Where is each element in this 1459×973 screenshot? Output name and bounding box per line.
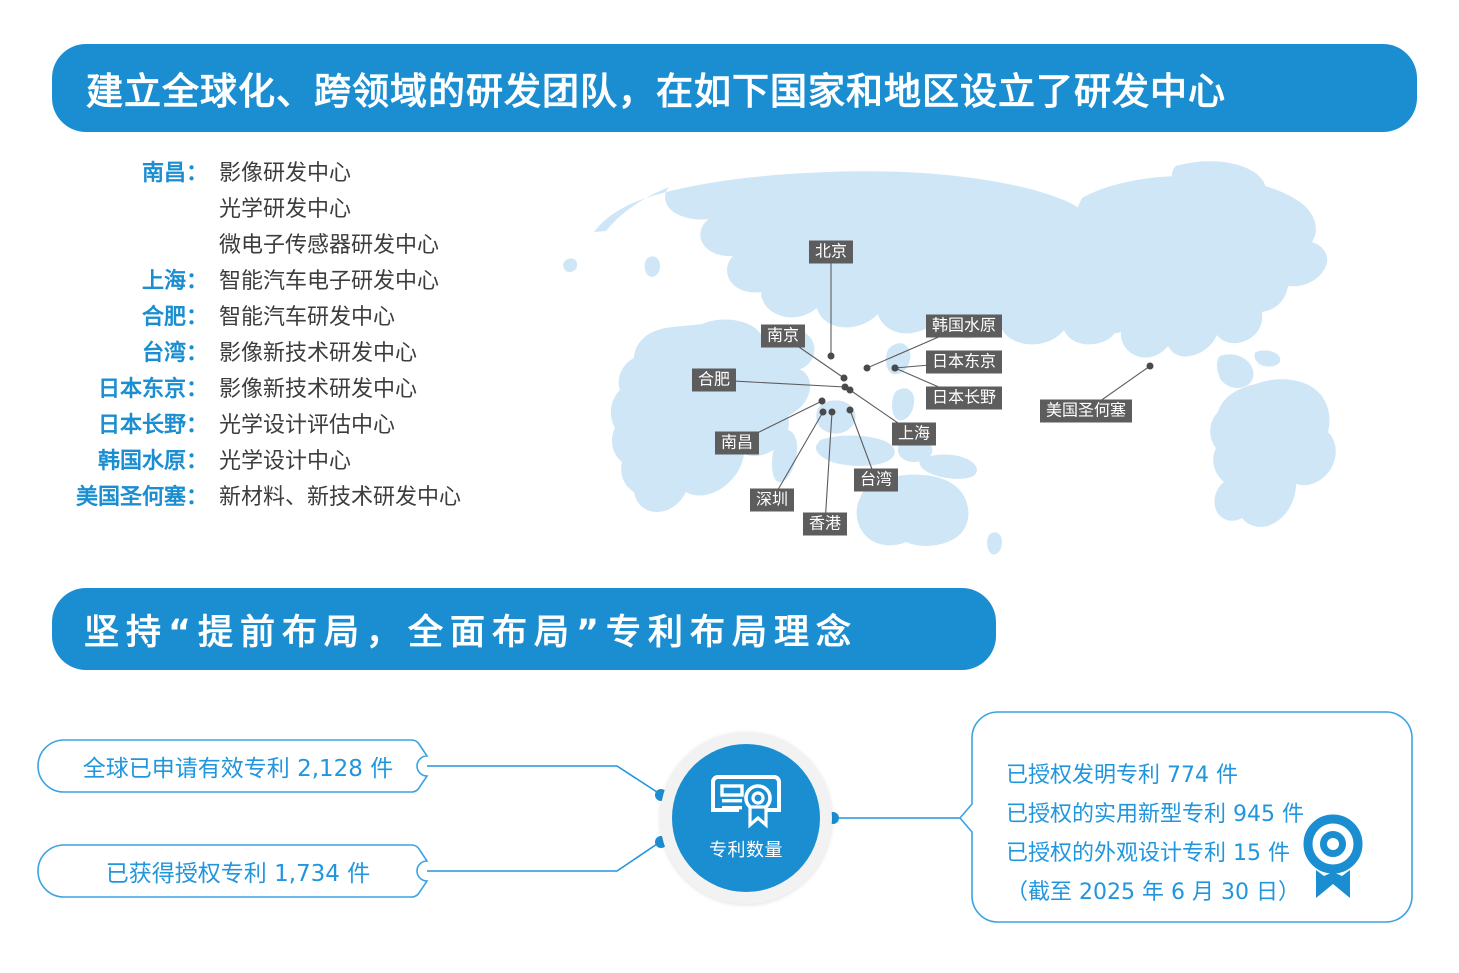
patent-detail-lines: 已授权发明专利 774 件已授权的实用新型专利 945 件已授权的外观设计专利 … [1006, 756, 1304, 912]
map-dot-suwon [864, 365, 871, 372]
map-label-beijing: 北京 [809, 241, 853, 264]
rnd-center-desc: 新材料、新技术研发中心 [208, 479, 461, 511]
region-central-america [1217, 354, 1253, 388]
map-label-hefei: 合肥 [692, 369, 736, 392]
rnd-banner: 建立全球化、跨领域的研发团队，在如下国家和地区设立了研发中心 [52, 44, 1417, 132]
rnd-center-desc: 影像研发中心 [208, 155, 351, 187]
rnd-center-row: 合肥：智能汽车研发中心 [40, 299, 495, 335]
rnd-center-city: 美国圣何塞： [40, 479, 208, 511]
rnd-center-desc: 光学研发中心 [208, 191, 351, 223]
map-dot-hongkong [829, 409, 836, 416]
patent-count-badge-label: 专利数量 [709, 836, 783, 862]
pill-granted-patents: 已获得授权专利 1,734 件 [38, 845, 438, 897]
patent-detail-panel: 已授权发明专利 774 件已授权的实用新型专利 945 件已授权的外观设计专利 … [972, 712, 1412, 922]
region-caribbean [1254, 350, 1280, 366]
map-label-shenzhen: 深圳 [750, 489, 794, 512]
rnd-center-desc: 光学设计中心 [208, 443, 351, 475]
region-north-america [1072, 176, 1328, 358]
rnd-center-desc: 影像新技术研发中心 [208, 371, 417, 403]
patent-detail-line: （截至 2025 年 6 月 30 日） [1006, 873, 1304, 912]
region-newzealand [987, 532, 1002, 554]
rnd-center-city: 合肥： [40, 299, 208, 331]
map-dot-taiwan [847, 407, 854, 414]
rnd-center-desc: 智能汽车电子研发中心 [208, 263, 439, 295]
patent-banner-title: 坚持“提前布局，全面布局”专利布局理念 [84, 604, 858, 655]
rnd-center-city: 日本长野： [40, 407, 208, 439]
pill-granted-text: 已获得授权专利 1,734 件 [106, 854, 370, 888]
rnd-center-row: 韩国水原：光学设计中心 [40, 443, 495, 479]
medal-icon [1298, 814, 1368, 900]
rnd-center-desc: 光学设计评估中心 [208, 407, 395, 439]
patent-count-badge-inner: 专利数量 [672, 744, 820, 892]
rnd-center-row: 上海：智能汽车电子研发中心 [40, 263, 495, 299]
map-dot-shenzhen [820, 409, 827, 416]
rnd-center-row: 美国圣何塞：新材料、新技术研发中心 [40, 479, 495, 515]
map-label-nanchang: 南昌 [715, 432, 759, 455]
pill-applied-text: 全球已申请有效专利 2,128 件 [83, 749, 393, 783]
rnd-banner-title: 建立全球化、跨领域的研发团队，在如下国家和地区设立了研发中心 [86, 61, 1226, 115]
rnd-center-city: 台湾： [40, 335, 208, 367]
map-dot-beijing [828, 353, 835, 360]
map-dot-sanjose [1147, 363, 1154, 370]
map-dot-nagano [892, 365, 899, 372]
rnd-center-row: 南昌：影像研发中心 [40, 155, 495, 191]
world-map: 北京南京合肥南昌深圳香港台湾上海韩国水原日本东京日本长野美国圣何塞 [520, 140, 1420, 580]
map-label-nagano: 日本长野 [926, 387, 1002, 410]
region-south-america [1210, 379, 1336, 527]
rnd-center-city: 上海： [40, 263, 208, 295]
rnd-center-row: 日本长野：光学设计评估中心 [40, 407, 495, 443]
map-dot-nanchang [819, 398, 826, 405]
rnd-center-desc: 影像新技术研发中心 [208, 335, 417, 367]
map-label-tokyo: 日本东京 [926, 351, 1002, 374]
map-label-taiwan: 台湾 [854, 469, 898, 492]
patent-detail-line: 已授权发明专利 774 件 [1006, 756, 1304, 795]
patent-count-badge: 专利数量 [660, 732, 832, 904]
rnd-center-row: 光学研发中心 [40, 191, 495, 227]
patent-detail-line: 已授权的外观设计专利 15 件 [1006, 834, 1304, 873]
rnd-center-desc: 微电子传感器研发中心 [208, 227, 439, 259]
connector-granted [427, 842, 660, 871]
infographic-page: 建立全球化、跨领域的研发团队，在如下国家和地区设立了研发中心 南昌：影像研发中心… [0, 0, 1459, 973]
rnd-center-desc: 智能汽车研发中心 [208, 299, 395, 331]
map-label-nanjing: 南京 [761, 325, 805, 348]
rnd-center-list: 南昌：影像研发中心光学研发中心微电子传感器研发中心上海：智能汽车电子研发中心合肥… [40, 155, 495, 515]
rnd-center-row: 台湾：影像新技术研发中心 [40, 335, 495, 371]
rnd-center-city: 韩国水原： [40, 443, 208, 475]
patent-section: 全球已申请有效专利 2,128 件 已获得授权专利 1,734 件 专利数量 [0, 690, 1459, 940]
pill-applied-patents: 全球已申请有效专利 2,128 件 [38, 740, 438, 792]
connector-applied [427, 766, 660, 794]
map-label-hongkong: 香港 [803, 513, 847, 536]
region-newguinea [920, 455, 977, 479]
map-label-sanjose: 美国圣何塞 [1040, 400, 1132, 423]
patent-detail-line: 已授权的实用新型专利 945 件 [1006, 795, 1304, 834]
map-dot-shanghai [847, 387, 854, 394]
map-label-suwon: 韩国水原 [926, 315, 1002, 338]
certificate-icon [709, 774, 783, 830]
rnd-center-city: 南昌： [40, 155, 208, 187]
map-dot-nanjing [841, 375, 848, 382]
rnd-center-city: 日本东京： [40, 371, 208, 403]
rnd-center-row: 日本东京：影像新技术研发中心 [40, 371, 495, 407]
patent-banner: 坚持“提前布局，全面布局”专利布局理念 [52, 588, 996, 670]
map-label-shanghai: 上海 [892, 423, 936, 446]
rnd-center-row: 微电子传感器研发中心 [40, 227, 495, 263]
region-sea [816, 400, 855, 433]
